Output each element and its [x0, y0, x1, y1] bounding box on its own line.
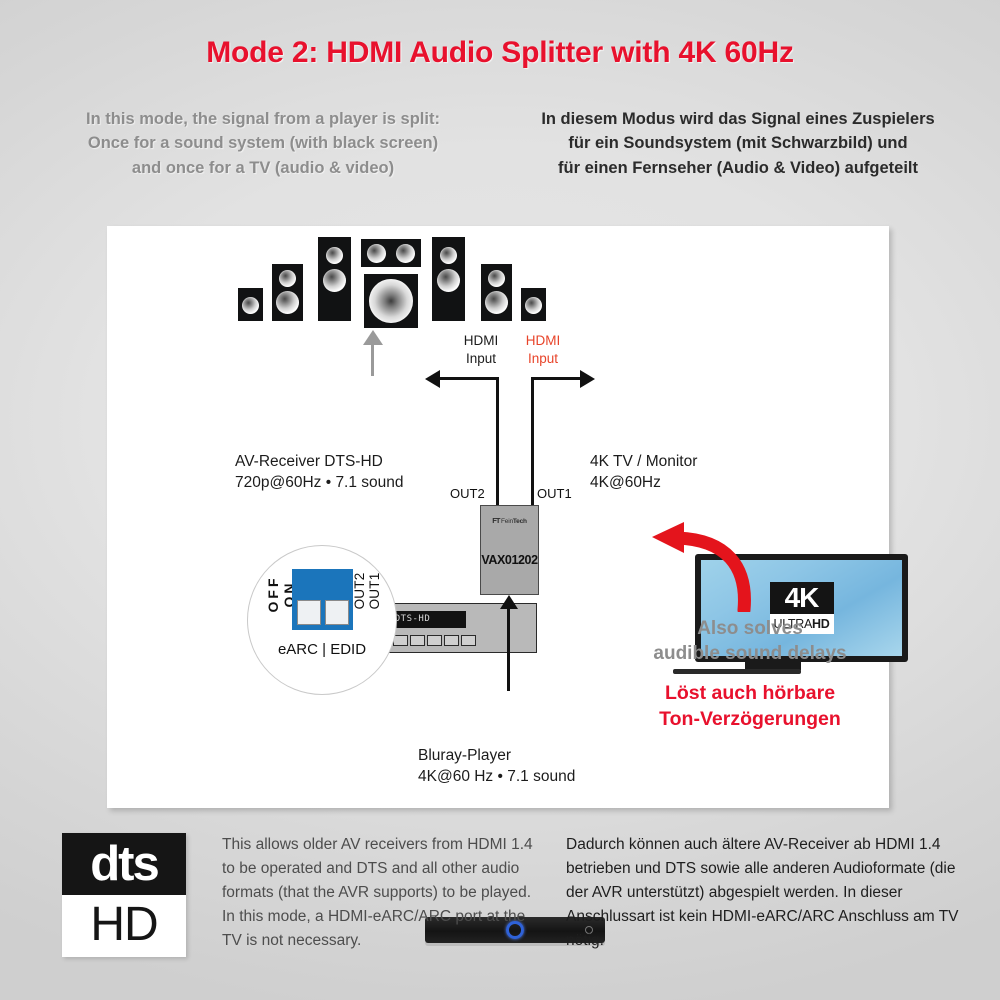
- out1-wire-vertical: [531, 377, 534, 507]
- speaker-driver: [485, 291, 508, 314]
- footer-text-german: Dadurch können auch ältere AV-Receiver a…: [566, 833, 966, 953]
- bluray-caption-line-2: 4K@60 Hz • 7.1 sound: [418, 766, 575, 787]
- out1-wire-horizontal: [531, 377, 584, 380]
- speaker-driver: [367, 244, 386, 263]
- callout-de-line-2: Ton-Verzögerungen: [600, 707, 900, 733]
- speaker-subwoofer: [364, 274, 418, 328]
- subtitle-de-line-3: für einen Fernseher (Audio & Video) aufg…: [500, 156, 976, 180]
- hdmi-splitter-device: FT FeinTech VAX01202: [480, 505, 539, 595]
- out1-arrow-icon: [580, 370, 595, 388]
- subtitle-en-line-3: and once for a TV (audio & video): [28, 156, 498, 180]
- speaker-driver: [276, 291, 299, 314]
- dip-switch-toggle-edid[interactable]: [325, 600, 349, 625]
- subtitle-de-line-1: In diesem Modus wird das Signal eines Zu…: [500, 107, 976, 131]
- speaker-driver: [323, 269, 346, 292]
- speaker-surround-right: [481, 264, 512, 321]
- callout-en-line-1: Also solves: [600, 616, 900, 641]
- speaker-center-channel: [361, 239, 421, 267]
- callout-english: Also solves audible sound delays: [600, 616, 900, 666]
- subtitle-en-line-2: Once for a sound system (with black scre…: [28, 131, 498, 155]
- subtitle-en-line-1: In this mode, the signal from a player i…: [28, 107, 498, 131]
- bluray-caption-line-1: Bluray-Player: [418, 745, 575, 766]
- speaker-driver: [488, 270, 505, 287]
- callout-german: Löst auch hörbare Ton-Verzögerungen: [600, 681, 900, 732]
- speaker-driver: [242, 297, 259, 314]
- speaker-driver: [525, 297, 542, 314]
- dip-out-labels: OUT2 OUT1: [352, 562, 382, 620]
- splitter-model-label: VAX01202: [481, 553, 538, 567]
- speaker-front-right: [432, 237, 465, 321]
- speaker-driver: [396, 244, 415, 263]
- hdmi-input-tv-line-1: HDMI: [515, 332, 571, 350]
- feintech-logo: FT FeinTech: [481, 516, 538, 525]
- speaker-driver: [437, 269, 460, 292]
- avr-to-speakers-arrow-icon: [363, 330, 383, 345]
- speaker-surround-left: [272, 264, 303, 321]
- dts-logo-bottom-text: HD: [62, 895, 186, 957]
- tv-caption: 4K TV / Monitor 4K@60Hz: [590, 451, 697, 494]
- hdmi-input-avr-line-2: Input: [453, 350, 509, 368]
- out2-arrow-icon: [425, 370, 440, 388]
- hdmi-input-avr-label: HDMI Input: [453, 332, 509, 368]
- feintech-tech-text: Tech: [513, 518, 527, 525]
- callout-en-line-2: audible sound delays: [600, 641, 900, 666]
- avr-caption: AV-Receiver DTS-HD 720p@60Hz • 7.1 sound: [235, 451, 404, 494]
- player-to-splitter-arrow-icon: [500, 595, 518, 609]
- dip-switch-detail: OFF ON OUT2 OUT1 eARC | EDID: [247, 545, 397, 695]
- tv-stand-foot: [673, 669, 801, 674]
- port-label-out2: OUT2: [450, 486, 485, 501]
- feintech-fein-text: Fein: [501, 518, 513, 525]
- infographic-page: Mode 2: HDMI Audio Splitter with 4K 60Hz…: [0, 0, 1000, 1000]
- speaker-front-left: [318, 237, 351, 321]
- avr-button[interactable]: [427, 635, 442, 646]
- hdmi-input-tv-label: HDMI Input: [515, 332, 571, 368]
- subtitle-de-line-2: für ein Soundsystem (mit Schwarzbild) un…: [500, 131, 976, 155]
- hdmi-input-avr-line-1: HDMI: [453, 332, 509, 350]
- uhd-logo-4k-text: 4K: [770, 582, 834, 614]
- page-title: Mode 2: HDMI Audio Splitter with 4K 60Hz: [0, 36, 1000, 70]
- avr-button[interactable]: [461, 635, 476, 646]
- red-curved-arrow-icon: [648, 522, 758, 612]
- diagram-panel: DTS-HD AV-Receiver DTS-HD 720p@60Hz • 7.…: [107, 226, 889, 808]
- dip-out2-text: OUT2: [352, 573, 367, 610]
- player-to-splitter-wire: [507, 609, 510, 691]
- tv-caption-line-2: 4K@60Hz: [590, 472, 697, 493]
- speaker-driver: [440, 247, 457, 264]
- dts-logo-top-text: dts: [62, 833, 186, 895]
- speaker-driver: [326, 247, 343, 264]
- dip-switch-toggle-earc[interactable]: [297, 600, 321, 625]
- callout-de-line-1: Löst auch hörbare: [600, 681, 900, 707]
- dip-off-text: OFF: [265, 576, 281, 613]
- dts-hd-logo: dts HD: [62, 833, 186, 957]
- speaker-surround-right-rear: [521, 288, 546, 321]
- avr-to-speakers-wire: [371, 344, 374, 376]
- dip-switch-body: [292, 569, 353, 630]
- dip-out1-text: OUT1: [367, 573, 382, 610]
- port-label-out1: OUT1: [537, 486, 572, 501]
- out2-wire-vertical: [496, 377, 499, 507]
- subtitle-german: In diesem Modus wird das Signal eines Zu…: [500, 107, 976, 180]
- feintech-mark: FT: [492, 516, 499, 525]
- bluray-caption: Bluray-Player 4K@60 Hz • 7.1 sound: [418, 745, 575, 788]
- avr-caption-line-2: 720p@60Hz • 7.1 sound: [235, 472, 404, 493]
- subwoofer-driver: [369, 279, 413, 323]
- subtitle-english: In this mode, the signal from a player i…: [28, 107, 498, 180]
- avr-button[interactable]: [444, 635, 459, 646]
- dip-switch-caption: eARC | EDID: [248, 641, 396, 658]
- avr-button[interactable]: [410, 635, 425, 646]
- speaker-surround-left-rear: [238, 288, 263, 321]
- hdmi-input-tv-line-2: Input: [515, 350, 571, 368]
- speaker-driver: [279, 270, 296, 287]
- avr-caption-line-1: AV-Receiver DTS-HD: [235, 451, 404, 472]
- footer-text-english: This allows older AV receivers from HDMI…: [222, 833, 542, 953]
- tv-caption-line-1: 4K TV / Monitor: [590, 451, 697, 472]
- out2-wire-horizontal: [439, 377, 499, 380]
